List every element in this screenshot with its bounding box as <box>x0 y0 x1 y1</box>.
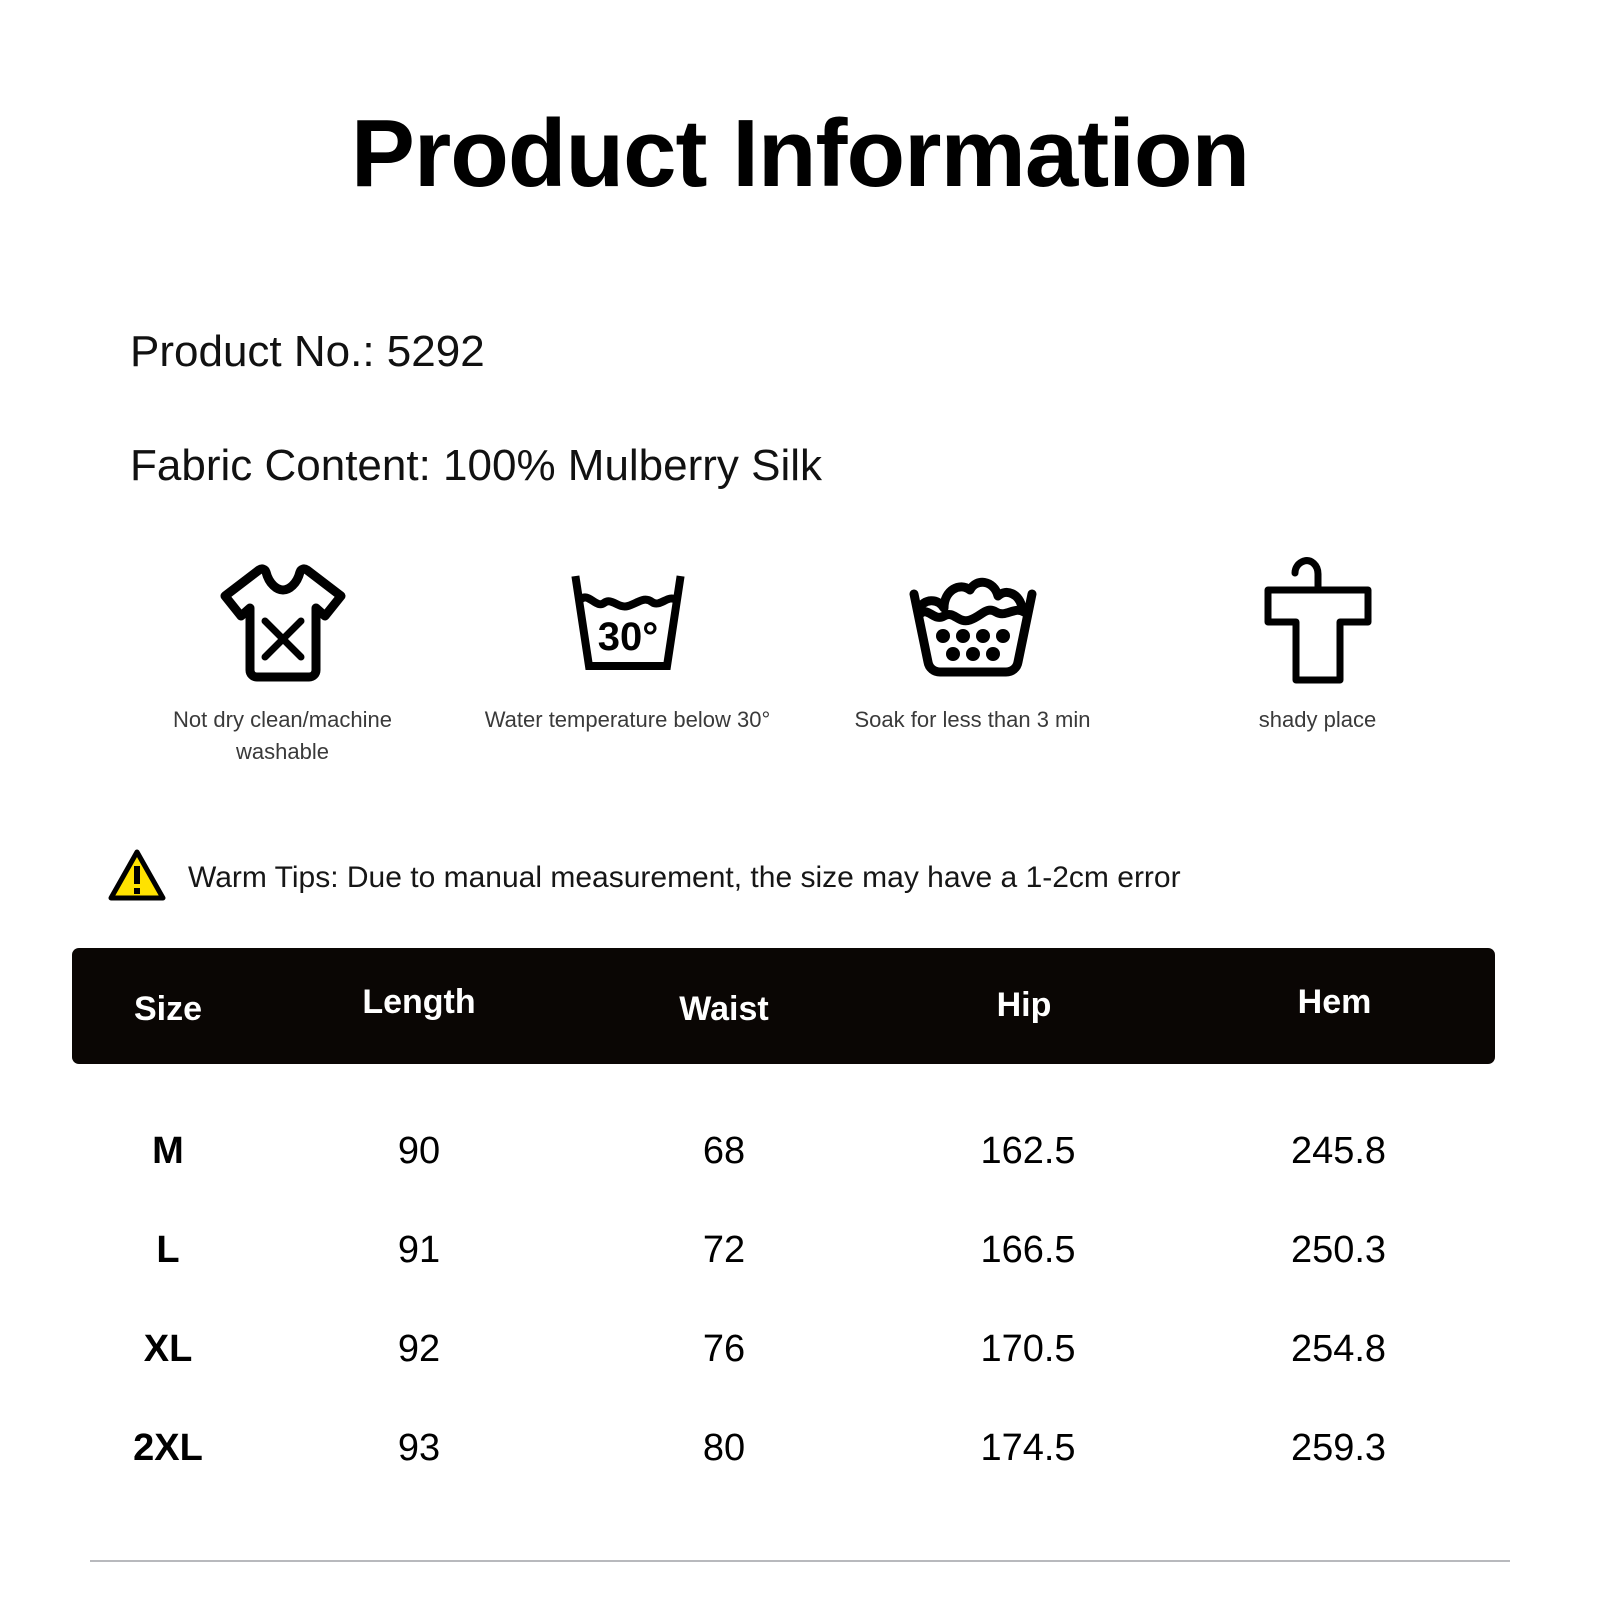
cell-hem: 254.8 <box>1178 1328 1499 1371</box>
care-instruction-row: Not dry clean/machine washable 30° Water… <box>110 548 1490 768</box>
cell-waist: 68 <box>574 1130 874 1173</box>
wash-temperature-value: 30° <box>597 615 658 659</box>
column-header-waist: Waist <box>574 990 874 1029</box>
cell-size: L <box>72 1229 264 1272</box>
cell-waist: 72 <box>574 1229 874 1272</box>
size-table: Size Length Waist Hip Hem M 90 68 162.5 … <box>72 948 1495 1498</box>
cell-size: 2XL <box>72 1427 264 1470</box>
size-table-header-row: Size Length Waist Hip Hem <box>72 948 1495 1064</box>
cell-hem: 245.8 <box>1178 1130 1499 1173</box>
column-header-hip: Hip <box>874 986 1174 1025</box>
care-item-no-dryclean: Not dry clean/machine washable <box>110 548 455 768</box>
warm-tips: Warm Tips: Due to manual measurement, th… <box>108 848 1181 907</box>
cell-size: M <box>72 1130 264 1173</box>
column-header-length: Length <box>264 983 574 1022</box>
table-row: L 91 72 166.5 250.3 <box>72 1201 1495 1300</box>
hanger-shirt-icon <box>1248 548 1388 698</box>
cell-hip: 162.5 <box>878 1130 1178 1173</box>
cell-length: 92 <box>264 1328 574 1371</box>
care-item-water-temperature: 30° Water temperature below 30° <box>455 548 800 736</box>
warning-triangle-icon <box>108 848 166 907</box>
care-label-soak: Soak for less than 3 min <box>823 704 1123 736</box>
tshirt-no-dryclean-icon <box>213 548 353 698</box>
care-label-shady-place: shady place <box>1168 704 1468 736</box>
cell-waist: 80 <box>574 1427 874 1470</box>
wash-tub-30-icon: 30° <box>558 548 698 698</box>
table-row: M 90 68 162.5 245.8 <box>72 1102 1495 1201</box>
column-header-hem: Hem <box>1174 983 1495 1022</box>
cell-length: 91 <box>264 1229 574 1272</box>
fabric-content-text: Fabric Content: 100% Mulberry Silk <box>130 441 822 491</box>
table-row: 2XL 93 80 174.5 259.3 <box>72 1399 1495 1498</box>
cell-hem: 259.3 <box>1178 1427 1499 1470</box>
cell-length: 93 <box>264 1427 574 1470</box>
cell-hip: 174.5 <box>878 1427 1178 1470</box>
care-item-shady-place: shady place <box>1145 548 1490 736</box>
cell-hip: 170.5 <box>878 1328 1178 1371</box>
column-header-size: Size <box>72 990 264 1029</box>
product-number-text: Product No.: 5292 <box>130 327 485 377</box>
cell-hem: 250.3 <box>1178 1229 1499 1272</box>
table-row: XL 92 76 170.5 254.8 <box>72 1300 1495 1399</box>
soak-basin-icon <box>898 548 1048 698</box>
cell-size: XL <box>72 1328 264 1371</box>
cell-hip: 166.5 <box>878 1229 1178 1272</box>
bottom-divider <box>90 1560 1510 1562</box>
warm-tips-text: Warm Tips: Due to manual measurement, th… <box>188 861 1181 895</box>
cell-waist: 76 <box>574 1328 874 1371</box>
care-label-water-temperature: Water temperature below 30° <box>478 704 778 736</box>
cell-length: 90 <box>264 1130 574 1173</box>
page-title: Product Information <box>0 104 1600 205</box>
care-item-soak: Soak for less than 3 min <box>800 548 1145 736</box>
care-label-no-dryclean: Not dry clean/machine washable <box>133 704 433 768</box>
